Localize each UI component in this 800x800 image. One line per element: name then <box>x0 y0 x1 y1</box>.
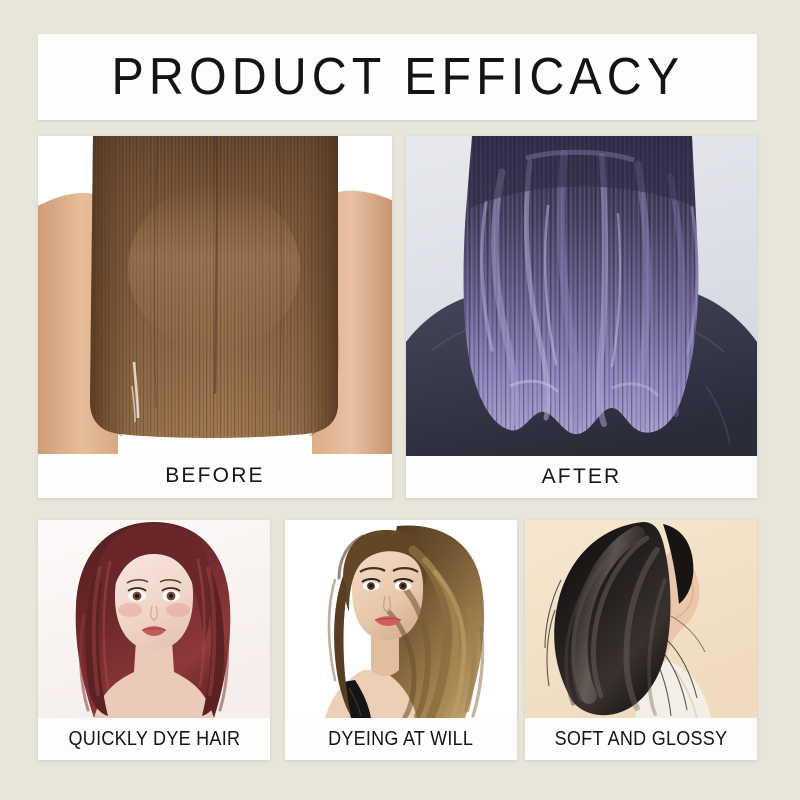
dyeing-at-will-caption: DYEING AT WILL <box>285 718 517 760</box>
after-photo <box>406 136 757 456</box>
caramel-hair-model-image <box>285 520 517 718</box>
page-title: PRODUCT EFFICACY <box>111 47 684 107</box>
before-card[interactable]: BEFORE <box>38 136 392 498</box>
before-caption-text: BEFORE <box>165 464 265 488</box>
soft-and-glossy-caption-text: SOFT AND GLOSSY <box>555 728 728 751</box>
quickly-dye-hair-photo <box>38 520 270 718</box>
dyeing-at-will-card[interactable]: DYEING AT WILL <box>285 520 517 760</box>
product-efficacy-infographic: PRODUCT EFFICACY <box>0 0 800 800</box>
before-caption: BEFORE <box>38 454 392 498</box>
quickly-dye-hair-caption-text: QUICKLY DYE HAIR <box>68 728 240 751</box>
before-photo <box>38 136 392 454</box>
red-hair-model-image <box>38 520 270 718</box>
quickly-dye-hair-caption: QUICKLY DYE HAIR <box>38 718 270 760</box>
after-card[interactable]: AFTER <box>406 136 757 498</box>
after-hair-image <box>406 136 757 456</box>
dyeing-at-will-caption-text: DYEING AT WILL <box>328 728 473 751</box>
soft-and-glossy-photo <box>525 520 757 718</box>
title-banner: PRODUCT EFFICACY <box>38 34 757 120</box>
black-glossy-hair-image <box>525 520 757 718</box>
dyeing-at-will-photo <box>285 520 517 718</box>
soft-and-glossy-caption: SOFT AND GLOSSY <box>525 718 757 760</box>
after-caption: AFTER <box>406 456 757 498</box>
after-caption-text: AFTER <box>542 465 622 489</box>
quickly-dye-hair-card[interactable]: QUICKLY DYE HAIR <box>38 520 270 760</box>
before-hair-image <box>38 136 392 454</box>
soft-and-glossy-card[interactable]: SOFT AND GLOSSY <box>525 520 757 760</box>
